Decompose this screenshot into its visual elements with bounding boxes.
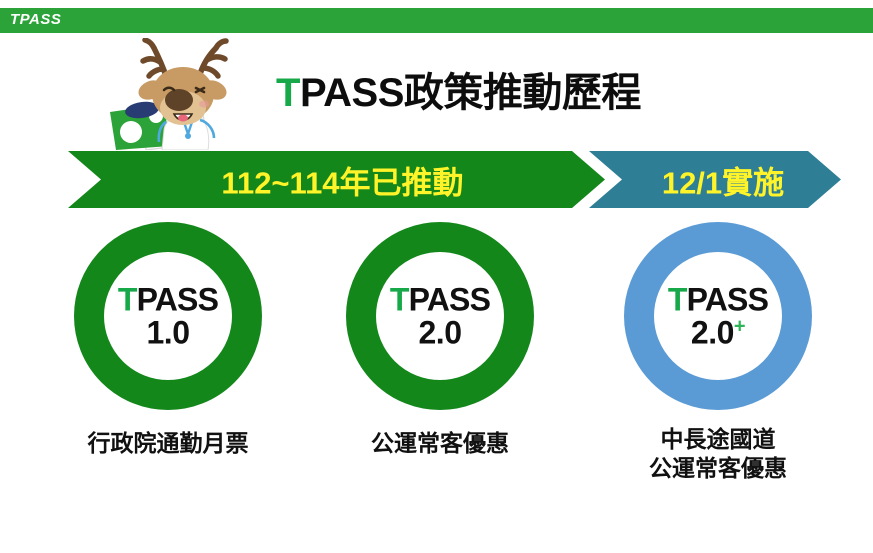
milestone-caption: 行政院通勤月票 [74, 429, 262, 458]
milestone-caption: 中長途國道 公運常客優惠 [624, 425, 812, 482]
milestone-node-tpass-1[interactable]: TPASS 1.0 行政院通勤月票 [74, 222, 262, 458]
milestone-badge: TPASS 2.0+ [654, 283, 782, 348]
badge-word: PASS [687, 281, 769, 317]
version-number: 1.0 [147, 314, 190, 350]
badge-highlight-letter: T [390, 281, 409, 317]
milestone-caption-line1: 中長途國道 [624, 425, 812, 454]
milestone-badge-name: TPASS [654, 283, 782, 316]
version-plus: + [734, 315, 745, 337]
slide-canvas: TPASS [0, 0, 873, 553]
milestone-caption-line2: 公運常客優惠 [624, 454, 812, 483]
milestone-ring: TPASS 2.0+ [624, 222, 812, 410]
milestone-badge-name: TPASS [376, 283, 504, 316]
badge-highlight-letter: T [118, 281, 137, 317]
version-number: 2.0 [691, 314, 734, 350]
milestone-version: 2.0+ [654, 316, 782, 349]
milestone-version: 1.0 [104, 316, 232, 349]
milestone-node-tpass-2[interactable]: TPASS 2.0 公運常客優惠 [346, 222, 534, 458]
top-brand-bar: TPASS [0, 8, 873, 33]
brand-label: TPASS [10, 11, 61, 28]
badge-word: PASS [409, 281, 491, 317]
deer-mascot-icon [104, 38, 254, 150]
badge-word: PASS [137, 281, 219, 317]
phase-banner-label: 12/1實施 [589, 157, 841, 202]
version-number: 2.0 [419, 314, 462, 350]
milestone-node-tpass-2-plus[interactable]: TPASS 2.0+ 中長途國道 公運常客優惠 [624, 222, 812, 482]
milestone-ring: TPASS 1.0 [74, 222, 262, 410]
phase-banner-upcoming[interactable]: 12/1實施 [589, 151, 841, 208]
milestone-ring: TPASS 2.0 [346, 222, 534, 410]
milestone-badge: TPASS 1.0 [104, 283, 232, 348]
milestone-caption: 公運常客優惠 [346, 429, 534, 458]
phase-banner-label: 112~114年已推動 [68, 157, 605, 202]
milestone-caption-line1: 行政院通勤月票 [74, 429, 262, 458]
milestone-badge: TPASS 2.0 [376, 283, 504, 348]
badge-highlight-letter: T [668, 281, 687, 317]
title-rest: PASS政策推動歷程 [300, 71, 641, 115]
title-highlight-letter: T [276, 71, 300, 115]
page-title: TPASS政策推動歷程 [276, 60, 641, 118]
milestone-caption-line1: 公運常客優惠 [346, 429, 534, 458]
phase-banner-existing[interactable]: 112~114年已推動 [68, 151, 605, 208]
milestone-badge-name: TPASS [104, 283, 232, 316]
milestone-version: 2.0 [376, 316, 504, 349]
